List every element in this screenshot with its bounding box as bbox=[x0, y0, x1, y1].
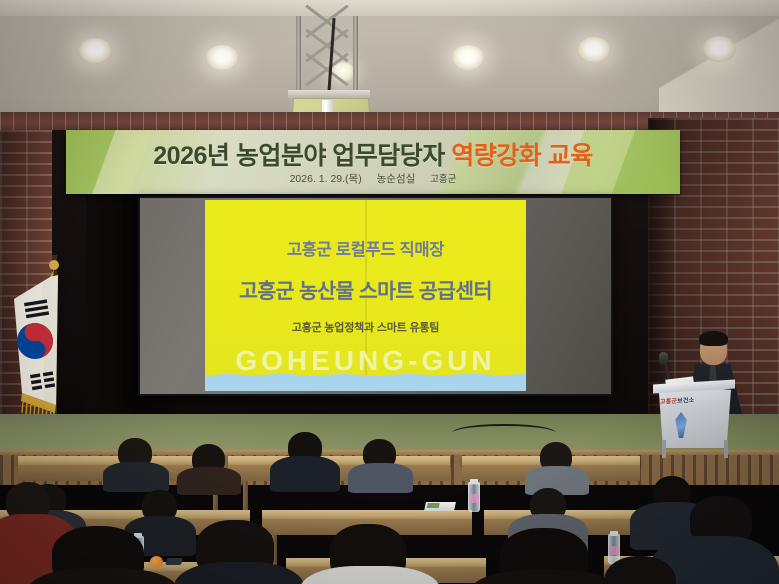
slide-line-3: 고흥군 농업정책과 스마트 유통팀 bbox=[205, 319, 526, 335]
presentation-slide: 고흥군 로컬푸드 직매장 고흥군 농산물 스마트 공급센터 고흥군 농업정책과 … bbox=[205, 200, 526, 391]
slide-line-2: 고흥군 농산물 스마트 공급센터 bbox=[205, 274, 526, 304]
downlight-icon bbox=[78, 38, 112, 64]
slide-wordmark: GOHEUNG-GUN bbox=[205, 345, 526, 377]
banner-title-plain: 2026년 농업분야 업무담당자 bbox=[153, 142, 451, 170]
water-bottle bbox=[468, 482, 480, 512]
audience-shoulders bbox=[270, 456, 340, 492]
speaker-hair bbox=[699, 331, 728, 346]
projector-lift-plate bbox=[288, 90, 370, 98]
audience-shoulders bbox=[177, 467, 241, 495]
audience-shoulders bbox=[103, 462, 169, 492]
korean-national-flag bbox=[2, 255, 78, 415]
projector-lift-mount bbox=[296, 16, 358, 92]
booklet-on-table bbox=[424, 502, 456, 511]
downlight-icon bbox=[451, 45, 485, 71]
downlight-icon bbox=[205, 45, 239, 71]
photo-scene: 2026년 농업분야 업무담당자 역량강화 교육 2026. 1. 29.(목)… bbox=[0, 0, 779, 584]
microphone-icon bbox=[659, 352, 668, 365]
audience-shoulders bbox=[470, 570, 620, 584]
banner-venue: 농순섬실 bbox=[377, 173, 416, 185]
table-row bbox=[262, 510, 472, 519]
podium-nameplate-blue: 보건소 bbox=[677, 398, 694, 405]
goheung-gun-logo: 고흥군 bbox=[430, 171, 456, 185]
audience-area bbox=[0, 440, 779, 584]
table-row bbox=[228, 456, 450, 465]
podium-nameplate-red: 고흥군 bbox=[660, 399, 677, 406]
orange-fruit bbox=[150, 556, 163, 568]
banner-title-highlight: 역량강화 교육 bbox=[451, 142, 592, 170]
banner-subtitle: 2026. 1. 29.(목) 농순섬실 고흥군 bbox=[66, 171, 680, 186]
downlight-icon bbox=[577, 37, 611, 63]
banner-title: 2026년 농업분야 업무담당자 역량강화 교육 bbox=[66, 136, 680, 172]
slide-line-1: 고흥군 로컬푸드 직매장 bbox=[205, 236, 526, 260]
event-banner: 2026년 농업분야 업무담당자 역량강화 교육 2026. 1. 29.(목)… bbox=[66, 130, 680, 194]
table-leg bbox=[243, 481, 248, 511]
banner-date: 2026. 1. 29.(목) bbox=[290, 173, 362, 185]
phone-on-table bbox=[165, 558, 183, 565]
downlight-icon bbox=[702, 36, 736, 62]
audience-shoulders bbox=[348, 463, 413, 493]
